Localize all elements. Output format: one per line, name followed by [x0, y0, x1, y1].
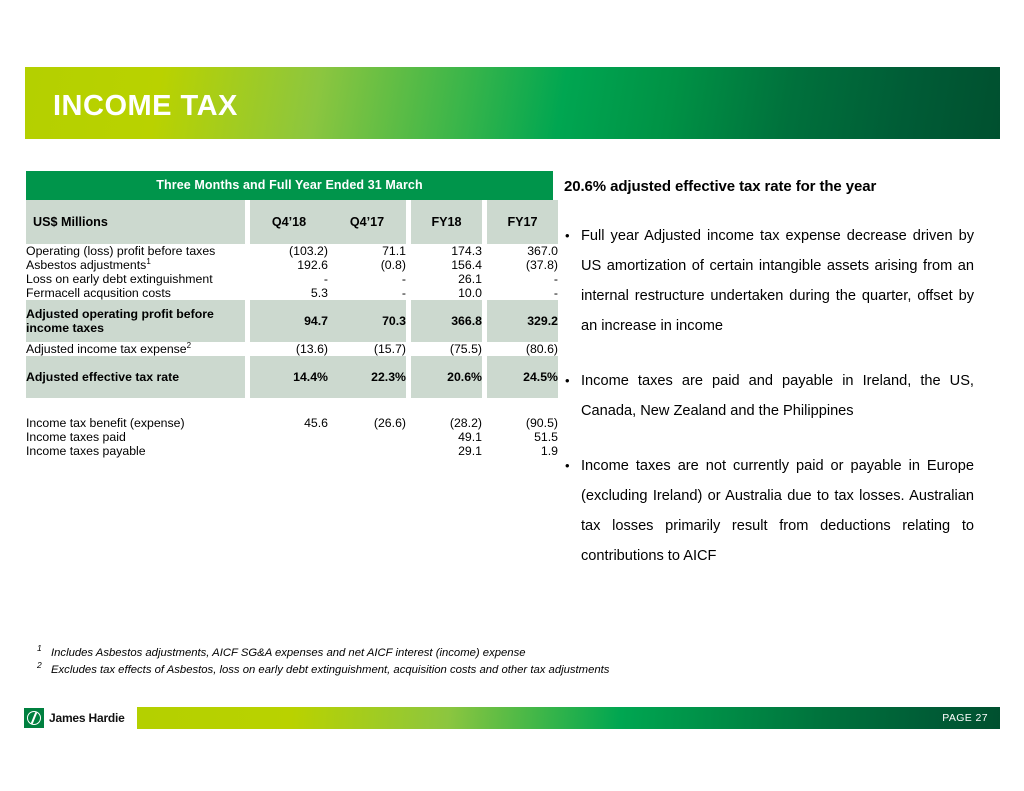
table-row: Adjusted income tax expense2(13.6)(15.7)…	[26, 342, 558, 356]
cell-value: 51.5	[487, 430, 558, 444]
row-label: Fermacell acqusition costs	[26, 286, 245, 300]
table-row: Asbestos adjustments1192.6(0.8)156.4(37.…	[26, 258, 558, 272]
cell-value: -	[328, 272, 406, 286]
table-row: Income tax benefit (expense)45.6(26.6)(2…	[26, 416, 558, 430]
cell-value	[328, 430, 406, 444]
footer-bar: PAGE 27	[137, 707, 1000, 729]
logo-text: James Hardie	[49, 711, 125, 725]
row-spacer	[26, 398, 558, 416]
cell-value: -	[250, 272, 328, 286]
cell-value: -	[487, 286, 558, 300]
james-hardie-logo: James Hardie	[24, 707, 125, 729]
table-caption: Three Months and Full Year Ended 31 Marc…	[26, 171, 553, 200]
bullet-item: Income taxes are not currently paid or p…	[564, 451, 974, 571]
jh-monogram-icon	[24, 708, 44, 728]
cell-value	[250, 430, 328, 444]
row-label: Operating (loss) profit before taxes	[26, 244, 245, 258]
cell-value: 22.3%	[328, 356, 406, 398]
cell-value: 366.8	[411, 300, 482, 342]
table-row: Operating (loss) profit before taxes(103…	[26, 244, 558, 258]
cell-value: 70.3	[328, 300, 406, 342]
col-header-fy17: FY17	[487, 200, 558, 244]
table-row: Adjusted effective tax rate14.4%22.3%20.…	[26, 356, 558, 398]
financial-table: Three Months and Full Year Ended 31 Marc…	[26, 171, 553, 458]
cell-value: 29.1	[411, 444, 482, 458]
table-row: Income taxes paid49.151.5	[26, 430, 558, 444]
cell-value: (28.2)	[411, 416, 482, 430]
page-title: INCOME TAX	[53, 90, 238, 123]
row-label: Adjusted effective tax rate	[26, 356, 245, 398]
col-header-metric: US$ Millions	[26, 200, 245, 244]
footnote-marker: 2	[187, 341, 191, 350]
col-header-q418: Q4’18	[250, 200, 328, 244]
table-row: Loss on early debt extinguishment--26.1-	[26, 272, 558, 286]
cell-value: (13.6)	[250, 342, 328, 356]
footnote-line: 1Includes Asbestos adjustments, AICF SG&…	[37, 645, 837, 662]
cell-value: 45.6	[250, 416, 328, 430]
row-label: Asbestos adjustments1	[26, 258, 245, 272]
row-label: Income taxes payable	[26, 444, 245, 458]
cell-value: 174.3	[411, 244, 482, 258]
cell-value: (80.6)	[487, 342, 558, 356]
row-label: Loss on early debt extinguishment	[26, 272, 245, 286]
bullet-item: Full year Adjusted income tax expense de…	[564, 221, 974, 341]
footnotes: 1Includes Asbestos adjustments, AICF SG&…	[37, 645, 837, 679]
cell-value: 1.9	[487, 444, 558, 458]
cell-value: 49.1	[411, 430, 482, 444]
commentary-panel: 20.6% adjusted effective tax rate for th…	[564, 178, 974, 596]
row-label: Income taxes paid	[26, 430, 245, 444]
col-header-fy18: FY18	[411, 200, 482, 244]
row-label: Adjusted operating profit before income …	[26, 300, 245, 342]
footnote-marker: 1	[146, 257, 150, 266]
cell-value: -	[487, 272, 558, 286]
bullet-item: Income taxes are paid and payable in Ire…	[564, 366, 974, 426]
cell-value: 156.4	[411, 258, 482, 272]
table-row: Adjusted operating profit before income …	[26, 300, 558, 342]
cell-value	[250, 444, 328, 458]
cell-value: 367.0	[487, 244, 558, 258]
footnote-line: 2Excludes tax effects of Asbestos, loss …	[37, 662, 837, 679]
cell-value: (37.8)	[487, 258, 558, 272]
cell-value: 192.6	[250, 258, 328, 272]
cell-value: (26.6)	[328, 416, 406, 430]
cell-value: 329.2	[487, 300, 558, 342]
table-row: Income taxes payable29.11.9	[26, 444, 558, 458]
cell-value: (103.2)	[250, 244, 328, 258]
commentary-heading: 20.6% adjusted effective tax rate for th…	[564, 178, 974, 195]
row-label: Adjusted income tax expense2	[26, 342, 245, 356]
cell-value: -	[328, 286, 406, 300]
row-label: Income tax benefit (expense)	[26, 416, 245, 430]
cell-value: 20.6%	[411, 356, 482, 398]
cell-value: (0.8)	[328, 258, 406, 272]
table-row: Fermacell acqusition costs5.3-10.0-	[26, 286, 558, 300]
table-header-row: US$ Millions Q4’18 Q4’17 FY18 FY17	[26, 200, 558, 244]
footnote-text: Includes Asbestos adjustments, AICF SG&A…	[51, 647, 526, 659]
commentary-bullets: Full year Adjusted income tax expense de…	[564, 221, 974, 571]
income-tax-table: US$ Millions Q4’18 Q4’17 FY18 FY17 Opera…	[26, 200, 558, 458]
cell-value: 26.1	[411, 272, 482, 286]
cell-value: (90.5)	[487, 416, 558, 430]
cell-value: (75.5)	[411, 342, 482, 356]
cell-value: 71.1	[328, 244, 406, 258]
cell-value: 94.7	[250, 300, 328, 342]
page-number: PAGE 27	[942, 712, 988, 724]
footnote-text: Excludes tax effects of Asbestos, loss o…	[51, 664, 609, 676]
cell-value: 14.4%	[250, 356, 328, 398]
col-header-q417: Q4’17	[328, 200, 406, 244]
cell-value: 10.0	[411, 286, 482, 300]
cell-value: (15.7)	[328, 342, 406, 356]
cell-value: 5.3	[250, 286, 328, 300]
cell-value: 24.5%	[487, 356, 558, 398]
cell-value	[328, 444, 406, 458]
